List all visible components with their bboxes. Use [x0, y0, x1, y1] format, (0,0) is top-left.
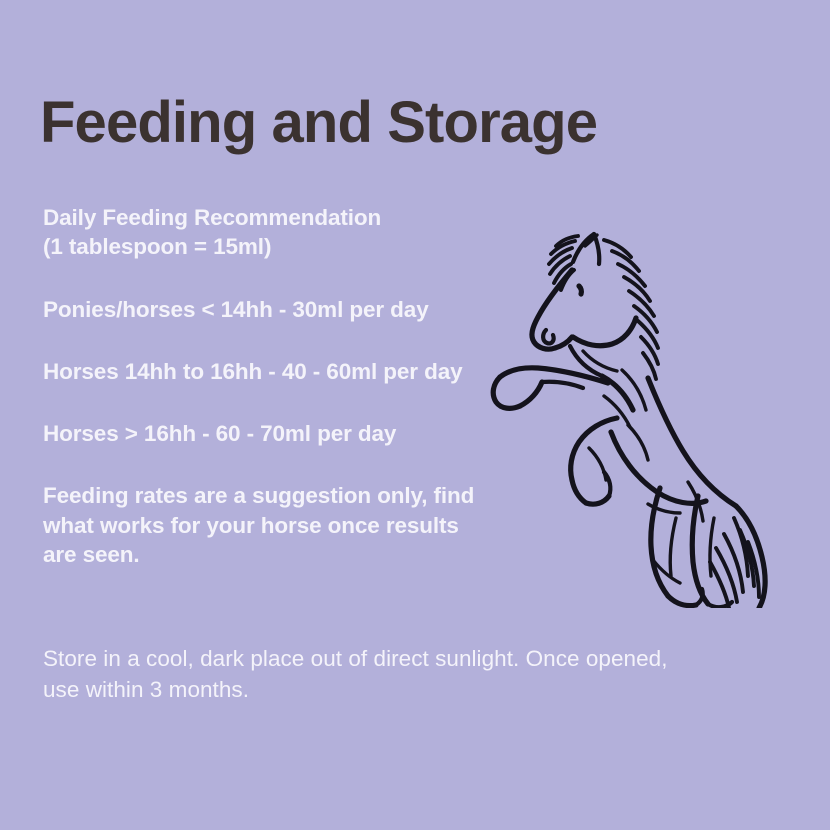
feeding-heading-line: Daily Feeding Recommendation	[43, 203, 563, 232]
feeding-text-column: Daily Feeding Recommendation (1 tablespo…	[43, 203, 563, 569]
dose-line-horses-over-16hh: Horses > 16hh - 60 - 70ml per day	[43, 419, 563, 448]
dose-text: Ponies/horses < 14hh - 30ml per day	[43, 295, 563, 324]
feeding-note-line: what works for your horse once results	[43, 511, 563, 540]
daily-feeding-recommendation-heading: Daily Feeding Recommendation (1 tablespo…	[43, 203, 563, 262]
storage-line: Store in a cool, dark place out of direc…	[43, 643, 803, 674]
feeding-note-line: Feeding rates are a suggestion only, fin…	[43, 481, 563, 510]
dose-text: Horses > 16hh - 60 - 70ml per day	[43, 419, 563, 448]
feeding-rates-note: Feeding rates are a suggestion only, fin…	[43, 481, 563, 569]
storage-line: use within 3 months.	[43, 674, 803, 705]
feeding-note-line: are seen.	[43, 540, 563, 569]
feeding-and-storage-poster: Feeding and Storage Daily Feeding Recomm…	[0, 0, 830, 830]
page-title: Feeding and Storage	[40, 93, 597, 154]
storage-instructions: Store in a cool, dark place out of direc…	[43, 643, 803, 705]
feeding-heading-note-line: (1 tablespoon = 15ml)	[43, 232, 563, 261]
dose-text: Horses 14hh to 16hh - 40 - 60ml per day	[43, 357, 563, 386]
dose-line-ponies-under-14hh: Ponies/horses < 14hh - 30ml per day	[43, 295, 563, 324]
dose-line-horses-14hh-to-16hh: Horses 14hh to 16hh - 40 - 60ml per day	[43, 357, 563, 386]
